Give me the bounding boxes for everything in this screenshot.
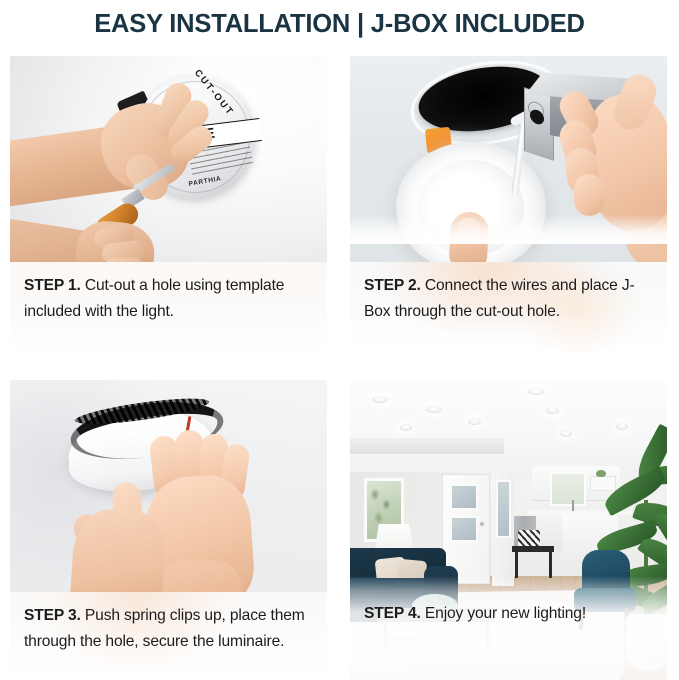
step-4-text: Enjoy your new lighting! xyxy=(421,605,586,622)
step-3-photo xyxy=(10,380,327,592)
step-1-caption-text: STEP 1. Cut-out a hole using template in… xyxy=(24,273,313,324)
console-bench xyxy=(512,546,554,552)
kitchen-shelf xyxy=(590,476,616,491)
step-card-4: STEP 4. Enjoy your new lighting! xyxy=(350,380,667,680)
step-3-caption: STEP 3. Push spring clips up, place them… xyxy=(10,592,327,680)
door-knob xyxy=(480,522,484,526)
step-1-label: STEP 1. xyxy=(24,277,81,294)
step-4-caption-text: STEP 4. Enjoy your new lighting! xyxy=(364,601,653,627)
recessed-light-icon xyxy=(400,424,412,431)
front-door-glass xyxy=(450,484,478,510)
bench-leg xyxy=(549,552,552,578)
step-card-3: STEP 3. Push spring clips up, place them… xyxy=(10,380,327,680)
recessed-light-icon xyxy=(372,396,388,403)
step-2-label: STEP 2. xyxy=(364,277,421,294)
step-1-caption: STEP 1. Cut-out a hole using template in… xyxy=(10,262,327,353)
step-3-caption-text: STEP 3. Push spring clips up, place them… xyxy=(24,603,313,654)
step-2-caption-text: STEP 2. Connect the wires and place J-Bo… xyxy=(364,273,653,324)
step-2-photo xyxy=(350,56,667,262)
recessed-light-icon xyxy=(616,423,628,430)
step-4-label: STEP 4. xyxy=(364,605,421,622)
recessed-light-icon xyxy=(528,388,544,395)
recessed-light-icon xyxy=(546,407,559,414)
step-card-1: CUT-OUT PLATE PARTHIA STEP 1. Cut- xyxy=(10,56,327,353)
kitchen-window xyxy=(550,472,586,506)
step-4-caption: STEP 4. Enjoy your new lighting! xyxy=(350,588,667,680)
ceiling-soffit xyxy=(350,438,504,454)
step-2-caption: STEP 2. Connect the wires and place J-Bo… xyxy=(350,262,667,353)
jbox-hand-finger xyxy=(573,173,604,216)
step-1-photo: CUT-OUT PLATE PARTHIA xyxy=(10,56,327,262)
step-card-2: STEP 2. Connect the wires and place J-Bo… xyxy=(350,56,667,353)
installation-infographic: EASY INSTALLATION | J-BOX INCLUDED CUT-O… xyxy=(0,0,679,680)
ceiling-edge-fade xyxy=(350,214,667,244)
kitchen-plant xyxy=(596,470,606,477)
right-hand-wrist xyxy=(156,560,242,592)
front-door-glass xyxy=(450,516,478,542)
door-sidelite xyxy=(496,480,511,538)
kitchen-faucet xyxy=(572,500,574,511)
recessed-light-icon xyxy=(560,430,572,437)
step-3-label: STEP 3. xyxy=(24,607,81,624)
page-title: EASY INSTALLATION | J-BOX INCLUDED xyxy=(0,2,679,46)
recessed-light-icon xyxy=(426,406,442,413)
bench-leg xyxy=(515,552,518,578)
recessed-light-icon xyxy=(468,418,481,425)
